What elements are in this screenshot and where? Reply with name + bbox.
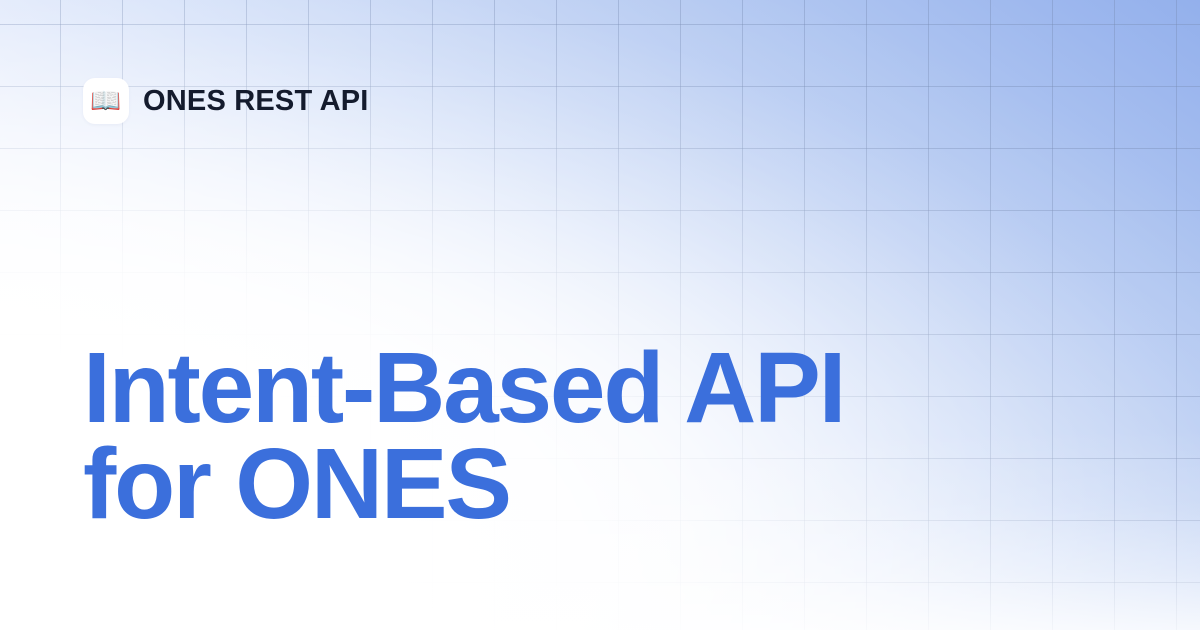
- brand-header: 📖 ONES REST API: [83, 78, 369, 124]
- banner-content: 📖 ONES REST API Intent-Based API for ONE…: [83, 0, 963, 630]
- page-title: Intent-Based API for ONES: [83, 340, 943, 532]
- open-book-icon: 📖: [90, 89, 121, 114]
- og-banner-card: 📖 ONES REST API Intent-Based API for ONE…: [0, 0, 1200, 630]
- brand-badge: 📖: [83, 78, 129, 124]
- brand-name: ONES REST API: [143, 85, 369, 118]
